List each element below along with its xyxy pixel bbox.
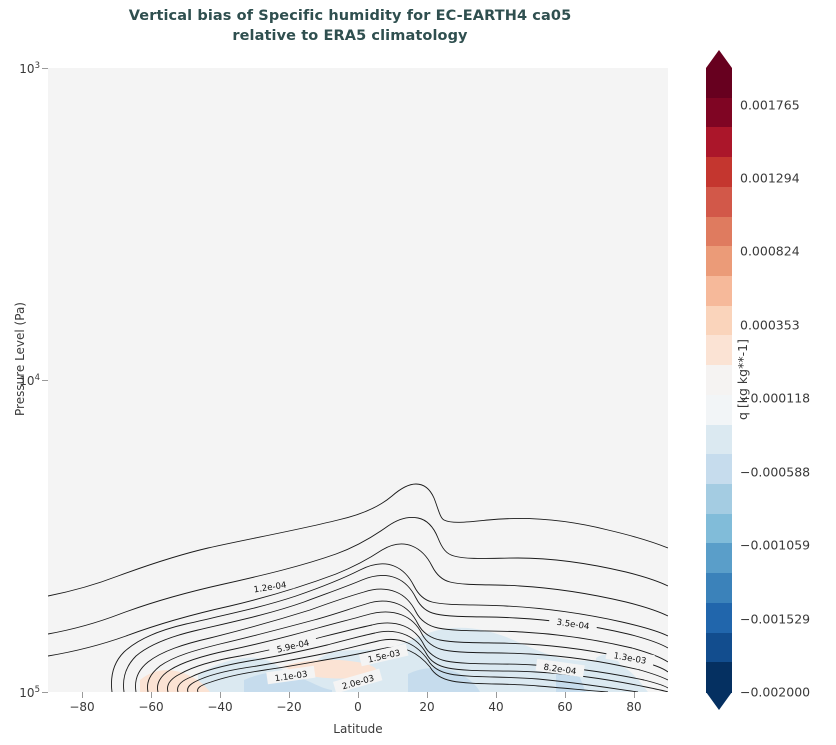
- colorbar: 0.0017650.0012940.0008240.000353−0.00011…: [706, 68, 732, 692]
- colorbar-band: [706, 157, 732, 187]
- x-tick-mark: [634, 692, 635, 698]
- x-tick-mark: [220, 692, 221, 698]
- x-tick-label: 0: [328, 700, 388, 714]
- chart-title-line2: relative to ERA5 climatology: [0, 26, 700, 46]
- colorbar-tick-label: −0.000588: [740, 464, 810, 479]
- colorbar-extend-min-arrow: [706, 692, 732, 710]
- contour-lines: [48, 484, 668, 692]
- x-tick-mark: [427, 692, 428, 698]
- y-tick-label: 105: [0, 685, 40, 700]
- x-tick-label: 80: [604, 700, 664, 714]
- colorbar-band: [706, 98, 732, 128]
- y-axis-label: Pressure Level (Pa): [13, 47, 27, 671]
- colorbar-band: [706, 127, 732, 157]
- x-tick-label: −80: [52, 700, 112, 714]
- x-tick-mark: [358, 692, 359, 698]
- colorbar-band: [706, 484, 732, 514]
- x-axis-label: Latitude: [48, 722, 668, 736]
- y-tick-mark: [42, 380, 48, 381]
- x-tick-mark: [565, 692, 566, 698]
- x-tick-mark: [82, 692, 83, 698]
- y-tick-mark: [42, 692, 48, 693]
- colorbar-band: [706, 187, 732, 217]
- colorbar-band: [706, 306, 732, 336]
- contour-labels: 1.2e-04 5.9e-04 1.1e-03 1.5e-03 2.0e-03: [226, 576, 655, 692]
- colorbar-tick-label: −0.002000: [740, 685, 810, 700]
- x-tick-label: 40: [466, 700, 526, 714]
- colorbar-band: [706, 395, 732, 425]
- colorbar-tick-label: 0.001765: [740, 97, 800, 112]
- colorbar-extend-max-arrow: [706, 50, 732, 68]
- plot-area: 1.2e-04 5.9e-04 1.1e-03 1.5e-03 2.0e-03: [48, 68, 668, 692]
- x-tick-label: 20: [397, 700, 457, 714]
- y-tick-mark: [42, 68, 48, 69]
- x-tick-label: −20: [259, 700, 319, 714]
- colorbar-tick-label: −0.000118: [740, 391, 810, 406]
- x-tick-mark: [496, 692, 497, 698]
- x-tick-label: 60: [535, 700, 595, 714]
- colorbar-band: [706, 662, 732, 692]
- colorbar-band: [706, 365, 732, 395]
- colorbar-tick-label: −0.001529: [740, 611, 810, 626]
- chart-title: Vertical bias of Specific humidity for E…: [0, 6, 700, 46]
- colorbar-band: [706, 276, 732, 306]
- colorbar-band: [706, 425, 732, 455]
- colorbar-band: [706, 573, 732, 603]
- colorbar-band: [706, 633, 732, 663]
- colorbar-band: [706, 603, 732, 633]
- colorbar-label: q [kg kg**-1]: [735, 220, 750, 420]
- figure-canvas: Vertical bias of Specific humidity for E…: [0, 0, 836, 745]
- colorbar-band: [706, 68, 732, 98]
- colorbar-band: [706, 246, 732, 276]
- colorbar-tick-label: 0.001294: [740, 171, 800, 186]
- colorbar-band: [706, 335, 732, 365]
- x-tick-mark: [151, 692, 152, 698]
- x-tick-label: −40: [190, 700, 250, 714]
- colorbar-tick-label: −0.001059: [740, 538, 810, 553]
- colorbar-band: [706, 543, 732, 573]
- chart-title-line1: Vertical bias of Specific humidity for E…: [129, 8, 572, 24]
- colorbar-band: [706, 217, 732, 247]
- x-tick-label: −60: [121, 700, 181, 714]
- x-tick-mark: [289, 692, 290, 698]
- line-contour-layer: 1.2e-04 5.9e-04 1.1e-03 1.5e-03 2.0e-03: [48, 68, 668, 692]
- colorbar-band: [706, 514, 732, 544]
- colorbar-band: [706, 454, 732, 484]
